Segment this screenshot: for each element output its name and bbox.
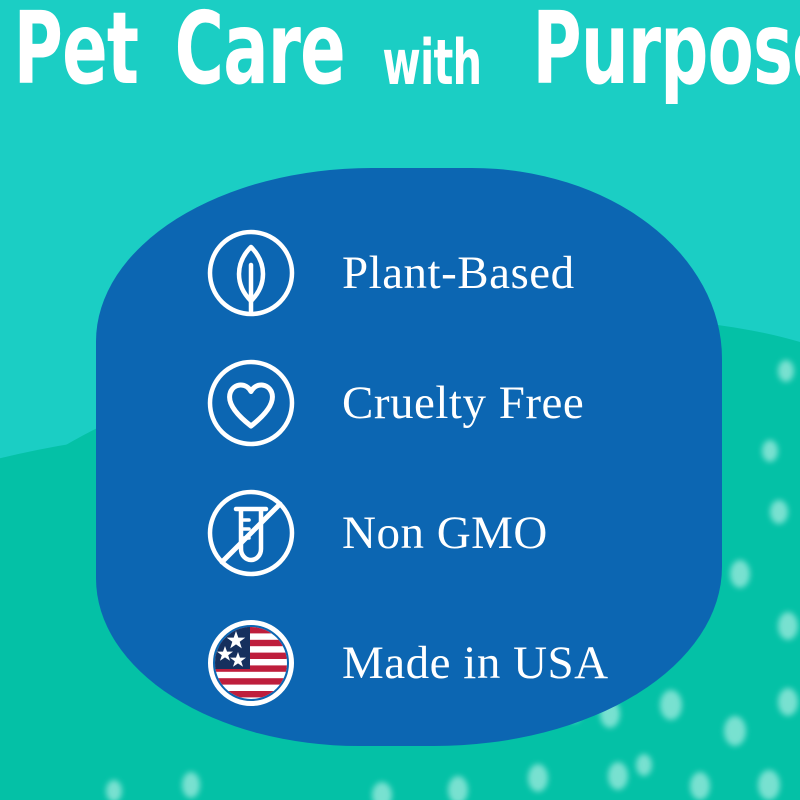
badge-row-non-gmo: Non GMO [205, 468, 685, 598]
leaf-in-circle-icon [205, 227, 297, 319]
page-title: Pet Care with Purpose ® [0, 18, 800, 100]
no-test-tube-icon [205, 487, 297, 579]
headline-word-with: with [382, 33, 481, 95]
heart-in-circle-icon [205, 357, 297, 449]
badge-row-plant-based: Plant-Based [205, 208, 685, 338]
poster-canvas: Pet Care with Purpose ® Plant-Based [0, 0, 800, 800]
badge-label-made-in-usa: Made in USA [342, 636, 609, 690]
badge-list: Plant-Based Cruelty Free [205, 208, 685, 728]
headline-word-care: Care [175, 0, 345, 100]
headline-word-purpose: Purpose [533, 0, 800, 100]
badge-row-made-in-usa: Made in USA [205, 598, 685, 728]
badge-label-non-gmo: Non GMO [342, 506, 548, 560]
badge-label-cruelty-free: Cruelty Free [342, 376, 584, 430]
headline-word-pet: Pet [14, 0, 139, 100]
badge-row-cruelty-free: Cruelty Free [205, 338, 685, 468]
badge-label-plant-based: Plant-Based [342, 246, 575, 300]
usa-flag-circle-icon [205, 617, 297, 709]
